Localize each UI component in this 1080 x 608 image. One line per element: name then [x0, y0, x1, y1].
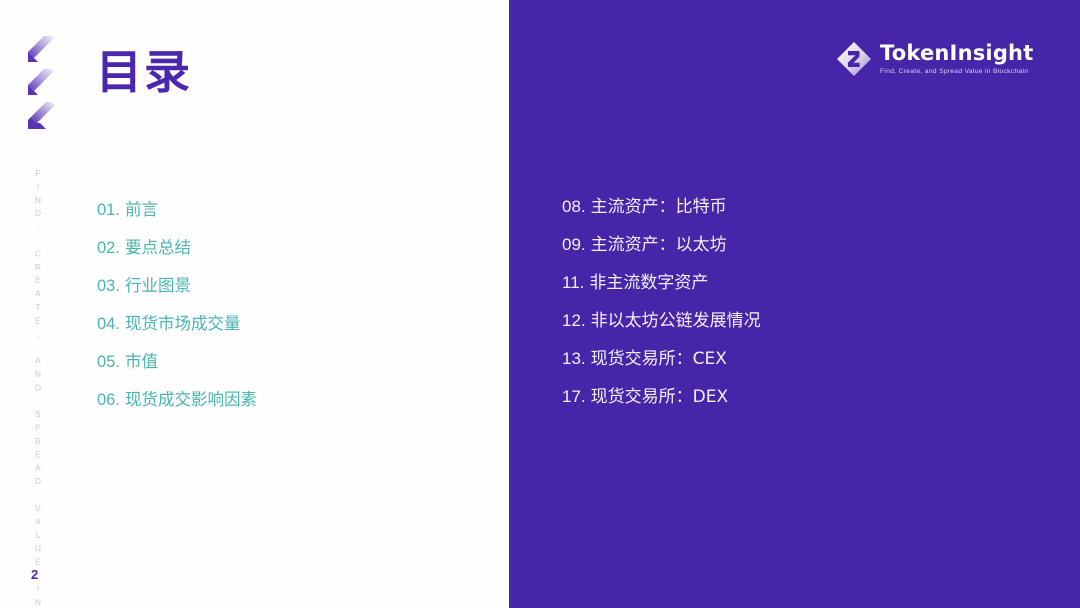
toc-item-label: 非以太坊公链发展情况: [591, 306, 761, 331]
toc-item-17[interactable]: 17. 现货交易所：DEX: [562, 382, 1022, 420]
logo-name: TokenInsight: [880, 42, 1033, 65]
slide-table-of-contents: 目录 FIND, CREATE, AND SPREAD VALUE IN BLO…: [0, 0, 1080, 608]
toc-item-label: 行业图景: [125, 272, 191, 296]
toc-item-number: 01.: [97, 201, 120, 220]
toc-item-label: 要点总结: [125, 234, 191, 258]
toc-item-label: 主流资产：以太坊: [591, 230, 727, 255]
toc-item-number: 17.: [562, 387, 586, 407]
toc-item-03[interactable]: 03. 行业图景: [97, 272, 487, 310]
toc-item-12[interactable]: 12. 非以太坊公链发展情况: [562, 306, 1022, 344]
toc-item-number: 05.: [97, 353, 120, 372]
toc-item-label: 现货交易所：DEX: [591, 382, 728, 407]
chevron-decoration-3: [24, 102, 58, 132]
toc-item-number: 06.: [97, 391, 120, 410]
toc-item-label: 现货市场成交量: [125, 310, 241, 334]
page-title: 目录: [96, 42, 192, 102]
toc-item-number: 02.: [97, 239, 120, 258]
toc-left-column: 01. 前言 02. 要点总结 03. 行业图景 04. 现货市场成交量 05.…: [97, 196, 487, 424]
toc-item-number: 03.: [97, 277, 120, 296]
toc-item-label: 现货交易所：CEX: [591, 344, 727, 369]
toc-item-number: 13.: [562, 349, 586, 369]
toc-right-column: 08. 主流资产：比特币 09. 主流资产：以太坊 11. 非主流数字资产 12…: [562, 192, 1022, 420]
toc-item-number: 04.: [97, 315, 120, 334]
vertical-brand-tagline: FIND, CREATE, AND SPREAD VALUE IN BLOCKC…: [21, 168, 43, 528]
page-number: 2: [31, 567, 38, 582]
toc-item-number: 09.: [562, 235, 586, 255]
toc-item-04[interactable]: 04. 现货市场成交量: [97, 310, 487, 348]
toc-item-number: 11.: [562, 273, 584, 293]
toc-item-05[interactable]: 05. 市值: [97, 348, 487, 386]
tokeninsight-logo: TokenInsight Find, Create, and Spread Va…: [836, 38, 1026, 80]
logo-tagline: Find, Create, and Spread Value in Blockc…: [880, 67, 1033, 77]
toc-item-label: 市值: [125, 348, 158, 372]
toc-item-number: 12.: [562, 311, 586, 331]
toc-item-09[interactable]: 09. 主流资产：以太坊: [562, 230, 1022, 268]
toc-item-label: 现货成交影响因素: [125, 386, 257, 410]
diamond-logo-icon: [836, 41, 872, 77]
chevron-decoration-1: [24, 36, 58, 66]
toc-item-08[interactable]: 08. 主流资产：比特币: [562, 192, 1022, 230]
logo-text-block: TokenInsight Find, Create, and Spread Va…: [880, 42, 1033, 77]
toc-item-02[interactable]: 02. 要点总结: [97, 234, 487, 272]
chevron-decoration-group: [24, 36, 64, 140]
toc-item-06[interactable]: 06. 现货成交影响因素: [97, 386, 487, 424]
chevron-decoration-2: [24, 69, 58, 99]
toc-item-13[interactable]: 13. 现货交易所：CEX: [562, 344, 1022, 382]
toc-item-01[interactable]: 01. 前言: [97, 196, 487, 234]
toc-item-label: 主流资产：比特币: [591, 192, 727, 217]
toc-item-11[interactable]: 11. 非主流数字资产: [562, 268, 1022, 306]
toc-item-number: 08.: [562, 197, 586, 217]
toc-item-label: 非主流数字资产: [589, 268, 708, 293]
toc-item-label: 前言: [125, 196, 158, 220]
